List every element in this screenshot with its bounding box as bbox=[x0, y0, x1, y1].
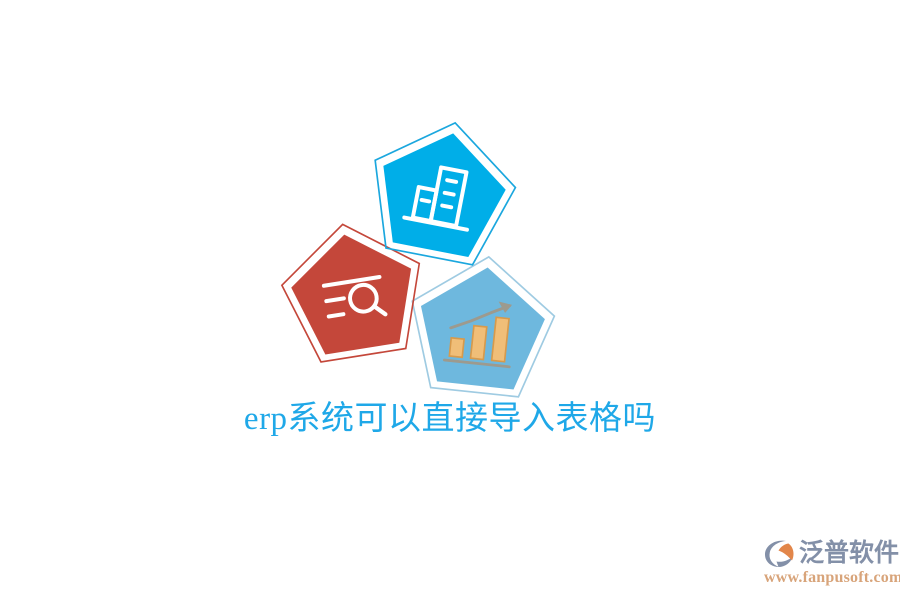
fanpu-swoosh-logo-icon bbox=[762, 537, 796, 569]
watermark: 泛普软件 www.fanpusoft.com bbox=[762, 534, 896, 596]
page-canvas: erp系统可以直接导入表格吗 泛普软件 www.fanpusoft.com bbox=[0, 0, 900, 600]
watermark-brand-text: 泛普软件 bbox=[799, 538, 899, 568]
pentagon-cluster-graphic bbox=[275, 120, 565, 410]
watermark-brand-row: 泛普软件 bbox=[762, 534, 896, 572]
pentagon-company-body bbox=[369, 121, 514, 261]
watermark-url-text: www.fanpusoft.com bbox=[764, 569, 896, 587]
page-title: erp系统可以直接导入表格吗 bbox=[0, 398, 900, 440]
pentagon-company bbox=[352, 107, 530, 285]
